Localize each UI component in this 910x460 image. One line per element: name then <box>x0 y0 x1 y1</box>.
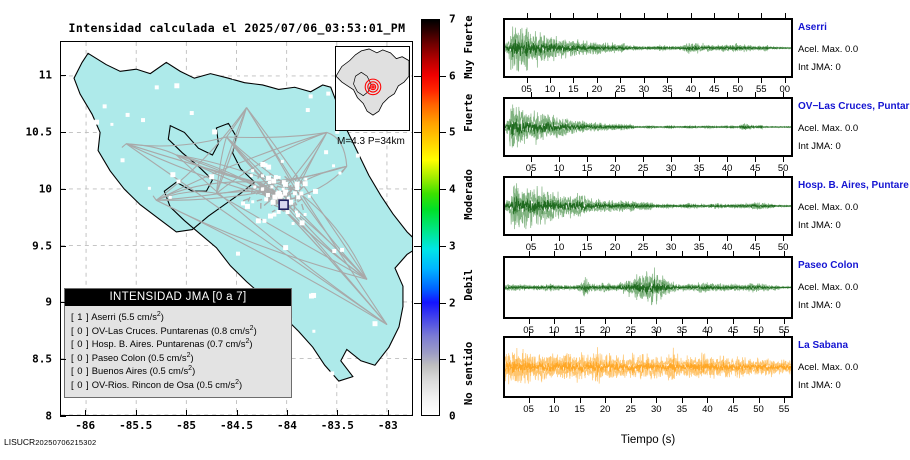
trace-bottom-tick <box>587 236 588 241</box>
trace-bottom-tick <box>682 319 683 324</box>
map-plot-area[interactable]: M=4.3 P=34km INTENSIDAD JMA [0 a 7] [ 1 … <box>60 41 413 416</box>
map-y-tick-label: 9.5 <box>0 239 52 252</box>
legend-row: [ 0 ] Hosp. B. Aires. Puntarenas (0.7 cm… <box>71 337 286 351</box>
trace-time-tick-label: 45 <box>740 242 770 253</box>
footer-org: LISUCR <box>4 437 35 447</box>
trace-bottom-tick <box>573 78 574 83</box>
map-y-tick-label: 10 <box>0 182 52 195</box>
trace-accel-max: Acel. Max. 0.0 <box>798 362 858 373</box>
colorbar-category-label: Fuerte <box>463 76 475 150</box>
map-y-tick-label: 8 <box>0 410 52 423</box>
legend-row: [ 0 ] Buenos Aires (0.5 cm/s2) <box>71 364 286 378</box>
inset-map-shape <box>336 47 409 130</box>
waveform <box>505 20 791 76</box>
trace-bottom-tick <box>671 236 672 241</box>
trace-frame[interactable] <box>503 176 793 236</box>
trace-frame[interactable] <box>503 18 793 78</box>
trace-time-tick-label: 40 <box>712 242 742 253</box>
trace-bottom-tick <box>531 157 532 162</box>
trace-bottom-tick <box>643 157 644 162</box>
trace-time-tick-label: 25 <box>628 242 658 253</box>
trace-bottom-tick <box>682 398 683 403</box>
legend-intensity-bracket: [ 0 ] <box>71 379 89 390</box>
intensity-colorbar: 76543210Muy FuerteFuerteModeradoDebilNo … <box>421 19 491 416</box>
legend-station-name: Aserri <box>91 311 115 322</box>
map-y-tick-label: 9 <box>0 296 52 309</box>
trace-bottom-tick <box>671 157 672 162</box>
legend-rows: [ 1 ] Aserri (5.5 cm/s2)[ 0 ] OV-Las Cru… <box>65 306 291 397</box>
trace-bottom-tick <box>699 157 700 162</box>
trace-bottom-tick <box>615 157 616 162</box>
trace-bottom-tick <box>656 398 657 403</box>
legend-accel-value: (0.5 cm/s2) <box>150 365 196 376</box>
legend-row: [ 0 ] Paseo Colon (0.5 cm/s2) <box>71 351 286 365</box>
legend-accel-value: (0.8 cm/s2) <box>211 325 257 336</box>
trace-bottom-tick <box>785 78 786 83</box>
map-y-tick-label: 10.5 <box>0 125 52 138</box>
trace-bottom-tick <box>727 157 728 162</box>
trace-jma-intensity: Int JMA: 0 <box>798 220 841 231</box>
colorbar-tick <box>440 132 446 133</box>
map-y-tick <box>60 246 66 247</box>
map-y-tick <box>60 189 66 190</box>
legend-intensity-bracket: [ 1 ] <box>71 311 89 322</box>
trace-bottom-tick <box>761 78 762 83</box>
legend-title: INTENSIDAD JMA [0 a 7] <box>65 289 291 306</box>
trace-accel-max: Acel. Max. 0.0 <box>798 44 858 55</box>
trace-station-name: Aserri <box>798 22 827 33</box>
intensity-legend: INTENSIDAD JMA [0 a 7] [ 1 ] Aserri (5.5… <box>64 288 292 398</box>
legend-accel-value: (5.5 cm/s2) <box>118 311 164 322</box>
colorbar-tick <box>414 132 421 133</box>
legend-accel-value: (0.5 cm/s2) <box>148 352 194 363</box>
trace-bottom-tick <box>738 78 739 83</box>
trace-bottom-tick <box>755 236 756 241</box>
legend-accel-value: (0.7 cm/s2) <box>207 338 253 349</box>
trace-station-name: Paseo Colon <box>798 260 859 271</box>
colorbar-category-label: Debil <box>463 240 475 331</box>
trace-bottom-tick <box>559 236 560 241</box>
inset-locator-map <box>335 46 410 131</box>
trace-bottom-tick <box>550 78 551 83</box>
trace-bottom-tick <box>631 319 632 324</box>
trace-bottom-tick <box>759 319 760 324</box>
waveform <box>505 338 791 396</box>
legend-intensity-bracket: [ 0 ] <box>71 365 89 376</box>
trace-bottom-tick <box>699 236 700 241</box>
colorbar-tick <box>414 246 421 247</box>
map-x-tick-label: -83 <box>358 419 418 432</box>
trace-bottom-tick <box>707 398 708 403</box>
colorbar-tick <box>440 303 446 304</box>
colorbar-category-label: Moderado <box>463 149 475 240</box>
trace-bottom-tick <box>733 398 734 403</box>
trace-bottom-tick <box>727 236 728 241</box>
trace-bottom-tick <box>656 319 657 324</box>
trace-bottom-tick <box>755 157 756 162</box>
trace-bottom-tick <box>529 398 530 403</box>
trace-time-tick-label: 15 <box>572 242 602 253</box>
colorbar-tick-label: 2 <box>449 296 456 309</box>
colorbar-tick-label: 4 <box>449 183 456 196</box>
colorbar-tick-label: 5 <box>449 126 456 139</box>
colorbar-tick <box>414 303 421 304</box>
trace-accel-max: Acel. Max. 0.0 <box>798 282 858 293</box>
legend-station-name: OV-Rios. Rincon de Osa <box>92 379 194 390</box>
trace-bottom-tick <box>527 78 528 83</box>
trace-bottom-tick <box>714 78 715 83</box>
trace-bottom-tick <box>587 157 588 162</box>
legend-intensity-bracket: [ 0 ] <box>71 325 89 336</box>
colorbar-tick-label: 0 <box>449 410 456 423</box>
colorbar-tick-label: 1 <box>449 353 456 366</box>
legend-row: [ 0 ] OV-Las Cruces. Puntarenas (0.8 cm/… <box>71 324 286 338</box>
trace-bottom-tick <box>784 319 785 324</box>
map-title: Intensidad calculada el 2025/07/06_03:53… <box>62 21 412 35</box>
legend-station-name: Buenos Aires <box>92 365 147 376</box>
map-x-tick <box>85 410 86 416</box>
trace-bottom-tick <box>784 398 785 403</box>
colorbar-tick <box>440 359 446 360</box>
trace-time-tick-label: 00 <box>770 84 800 95</box>
trace-jma-intensity: Int JMA: 0 <box>798 380 841 391</box>
legend-row: [ 1 ] Aserri (5.5 cm/s2) <box>71 310 286 324</box>
legend-accel-value: (0.5 cm/s2) <box>197 379 243 390</box>
map-y-tick <box>60 132 66 133</box>
epicenter-marker <box>279 200 288 209</box>
trace-bottom-tick <box>707 319 708 324</box>
colorbar-tick <box>440 246 446 247</box>
trace-frame[interactable] <box>503 336 793 398</box>
trace-bottom-tick <box>559 157 560 162</box>
map-y-tick <box>60 416 66 417</box>
waveform <box>505 99 791 155</box>
trace-jma-intensity: Int JMA: 0 <box>798 300 841 311</box>
map-x-tick <box>337 410 338 416</box>
trace-bottom-tick <box>554 398 555 403</box>
map-y-tick <box>60 359 66 360</box>
trace-bottom-tick <box>783 236 784 241</box>
trace-bottom-tick <box>531 236 532 241</box>
trace-time-tick-label: 10 <box>544 242 574 253</box>
trace-frame[interactable] <box>503 256 793 319</box>
trace-accel-max: Acel. Max. 0.0 <box>798 123 858 134</box>
map-y-tick <box>60 75 66 76</box>
trace-station-name: La Sabana <box>798 340 848 351</box>
magnitude-depth-label: M=4.3 P=34km <box>337 136 405 147</box>
trace-bottom-tick <box>691 78 692 83</box>
map-panel: Intensidad calculada el 2025/07/06_03:53… <box>0 0 495 460</box>
colorbar-category-label: No sentido <box>463 331 475 416</box>
colorbar-category-label: Muy Fuerte <box>463 19 475 76</box>
colorbar-tick <box>414 359 421 360</box>
colorbar-tick <box>414 189 421 190</box>
trace-jma-intensity: Int JMA: 0 <box>798 62 841 73</box>
waveform <box>505 178 791 234</box>
trace-bottom-tick <box>554 319 555 324</box>
colorbar-tick-label: 3 <box>449 239 456 252</box>
waveform <box>505 258 791 317</box>
trace-jma-intensity: Int JMA: 0 <box>798 141 841 152</box>
trace-station-name: OV−Las Cruces, Puntar <box>798 101 909 112</box>
trace-time-tick-label: 55 <box>769 404 799 415</box>
trace-bottom-tick <box>580 319 581 324</box>
colorbar-tick-label: 6 <box>449 69 456 82</box>
trace-bottom-tick <box>615 236 616 241</box>
colorbar-tick <box>440 189 446 190</box>
trace-time-tick-label: 35 <box>684 242 714 253</box>
footer-credit: LISUCR20250706215302 <box>4 437 96 447</box>
trace-bottom-tick <box>529 319 530 324</box>
map-y-tick-label: 11 <box>0 69 52 82</box>
colorbar-gradient <box>421 19 440 416</box>
legend-intensity-bracket: [ 0 ] <box>71 352 89 363</box>
colorbar-tick-label: 7 <box>449 13 456 26</box>
trace-bottom-tick <box>605 319 606 324</box>
trace-bottom-tick <box>605 398 606 403</box>
map-x-tick <box>186 410 187 416</box>
seismogram-panel: 051015202530354045505500AserriAcel. Max.… <box>495 0 910 460</box>
trace-bottom-tick <box>759 398 760 403</box>
footer-id: 20250706215302 <box>35 438 96 447</box>
map-y-tick <box>60 302 66 303</box>
map-x-tick <box>237 410 238 416</box>
trace-station-name: Hosp. B. Aires, Puntare <box>798 180 909 191</box>
time-axis-title: Tiempo (s) <box>503 434 793 446</box>
map-x-tick <box>136 410 137 416</box>
map-x-tick <box>287 410 288 416</box>
trace-bottom-tick <box>783 157 784 162</box>
legend-row: [ 0 ] OV-Rios. Rincon de Osa (0.5 cm/s2) <box>71 378 286 392</box>
legend-intensity-bracket: [ 0 ] <box>71 338 89 349</box>
legend-station-name: Hosp. B. Aires. Puntarenas <box>92 338 205 349</box>
map-x-tick <box>388 410 389 416</box>
trace-frame[interactable] <box>503 97 793 157</box>
legend-station-name: Paseo Colon <box>92 352 146 363</box>
trace-bottom-tick <box>644 78 645 83</box>
trace-bottom-tick <box>597 78 598 83</box>
trace-bottom-tick <box>667 78 668 83</box>
trace-bottom-tick <box>643 236 644 241</box>
map-y-tick-label: 8.5 <box>0 353 52 366</box>
trace-bottom-tick <box>620 78 621 83</box>
trace-bottom-tick <box>733 319 734 324</box>
trace-bottom-tick <box>631 398 632 403</box>
legend-station-name: OV-Las Cruces. Puntarenas <box>92 325 209 336</box>
trace-time-tick-label: 05 <box>516 242 546 253</box>
colorbar-tick <box>440 76 446 77</box>
trace-bottom-tick <box>580 398 581 403</box>
colorbar-tick <box>414 76 421 77</box>
trace-accel-max: Acel. Max. 0.0 <box>798 202 858 213</box>
